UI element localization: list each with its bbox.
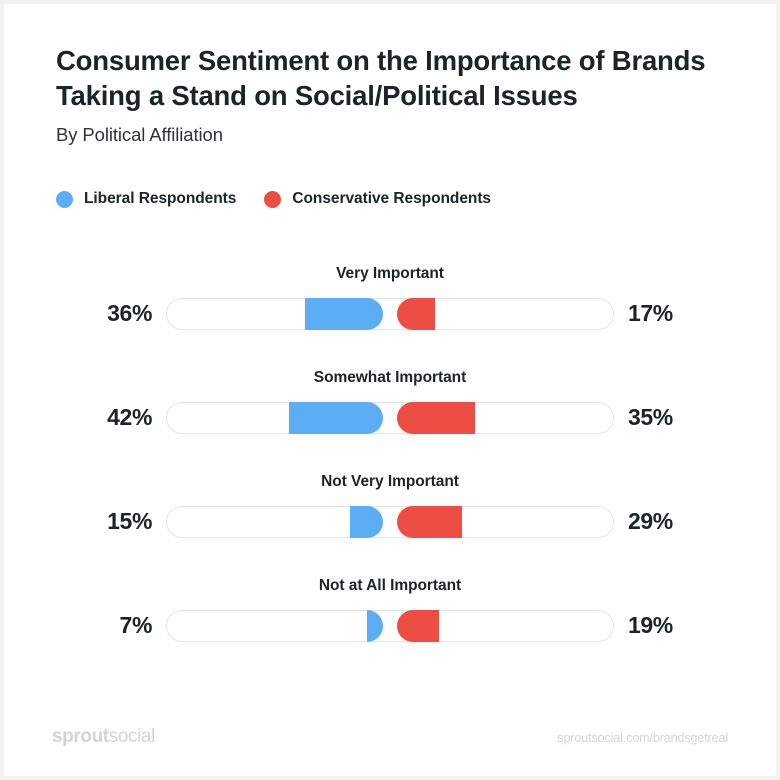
- bar-track: [166, 402, 614, 434]
- header: Consumer Sentiment on the Importance of …: [56, 44, 736, 146]
- bar-track: [166, 610, 614, 642]
- value-label-liberal: 15%: [30, 508, 152, 535]
- value-label-conservative: 29%: [628, 508, 750, 535]
- bar-fill-conservative: [397, 610, 439, 642]
- legend-label-liberal: Liberal Respondents: [84, 190, 236, 208]
- chart-row-label: Very Important: [4, 265, 776, 283]
- page-title: Consumer Sentiment on the Importance of …: [56, 44, 736, 113]
- chart-row-label: Not Very Important: [4, 473, 776, 491]
- chart-row: Not Very Important15%29%: [4, 464, 776, 568]
- bar-track: [166, 298, 614, 330]
- bar-area: 7%19%: [4, 606, 776, 646]
- logo-word-sprout: sprout: [52, 726, 109, 747]
- bar-track: [166, 506, 614, 538]
- diverging-bar-chart: Very Important36%17%Somewhat Important42…: [4, 256, 776, 672]
- value-label-conservative: 19%: [628, 612, 750, 639]
- bar-area: 36%17%: [4, 294, 776, 334]
- value-label-liberal: 36%: [30, 300, 152, 327]
- chart-row: Somewhat Important42%35%: [4, 360, 776, 464]
- title-line-2: Taking a Stand on Social/Political Issue…: [56, 80, 578, 111]
- legend-label-conservative: Conservative Respondents: [292, 190, 491, 208]
- value-label-liberal: 42%: [30, 404, 152, 431]
- value-label-conservative: 17%: [628, 300, 750, 327]
- bar-fill-conservative: [397, 402, 475, 434]
- legend-item-liberal: Liberal Respondents: [56, 190, 236, 208]
- value-label-conservative: 35%: [628, 404, 750, 431]
- bar-area: 42%35%: [4, 398, 776, 438]
- bar-fill-conservative: [397, 298, 435, 330]
- bar-fill-liberal: [350, 506, 383, 538]
- chart-legend: Liberal Respondents Conservative Respond…: [56, 190, 491, 208]
- bar-area: 15%29%: [4, 502, 776, 542]
- bar-fill-liberal: [305, 298, 383, 330]
- circle-icon: [56, 191, 73, 208]
- infographic-card: Consumer Sentiment on the Importance of …: [4, 4, 776, 776]
- circle-icon: [264, 191, 281, 208]
- logo-word-social: social: [109, 726, 155, 747]
- footer: sproutsocial sproutsocial.com/brandsgetr…: [4, 718, 776, 762]
- chart-row: Very Important36%17%: [4, 256, 776, 360]
- chart-row-label: Somewhat Important: [4, 369, 776, 387]
- chart-row: Not at All Important7%19%: [4, 568, 776, 672]
- sproutsocial-logo: sproutsocial: [52, 726, 155, 748]
- bar-fill-conservative: [397, 506, 462, 538]
- page-subtitle: By Political Affiliation: [56, 124, 736, 146]
- value-label-liberal: 7%: [30, 612, 152, 639]
- footer-url: sproutsocial.com/brandsgetreal: [557, 731, 728, 745]
- title-line-1: Consumer Sentiment on the Importance of …: [56, 45, 705, 76]
- bar-fill-liberal: [289, 402, 383, 434]
- chart-row-label: Not at All Important: [4, 577, 776, 595]
- legend-item-conservative: Conservative Respondents: [264, 190, 491, 208]
